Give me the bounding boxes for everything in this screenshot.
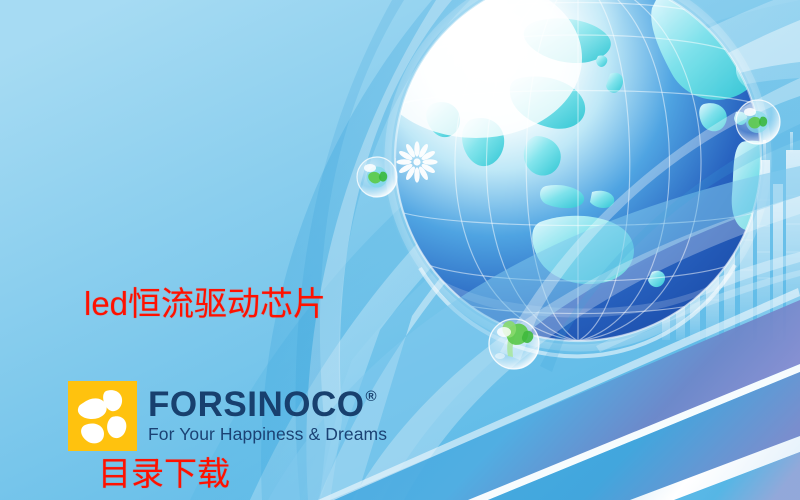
registered-trademark-icon: ® [365, 389, 376, 404]
promo-banner: led恒流驱动芯片 目录下载 FORSINOCO [0, 0, 800, 500]
four-petal-flower-glyph [68, 381, 137, 451]
bubble-globe-icon [357, 157, 397, 197]
headline-line-2: 目录下载 [84, 446, 326, 500]
logo-wordmark: FORSINOCO ® For Your Happiness & Dreams [148, 387, 387, 446]
brand-name: FORSINOCO [148, 387, 364, 422]
brand-tagline: For Your Happiness & Dreams [148, 425, 387, 444]
bubble-globe-right-icon [736, 100, 780, 144]
brand-row: FORSINOCO ® [148, 387, 387, 422]
company-logo: FORSINOCO ® For Your Happiness & Dreams [68, 381, 387, 451]
four-petal-flower-icon [68, 381, 137, 451]
bubble-tree-icon [489, 319, 539, 369]
headline-line-1: led恒流驱动芯片 [84, 276, 326, 333]
